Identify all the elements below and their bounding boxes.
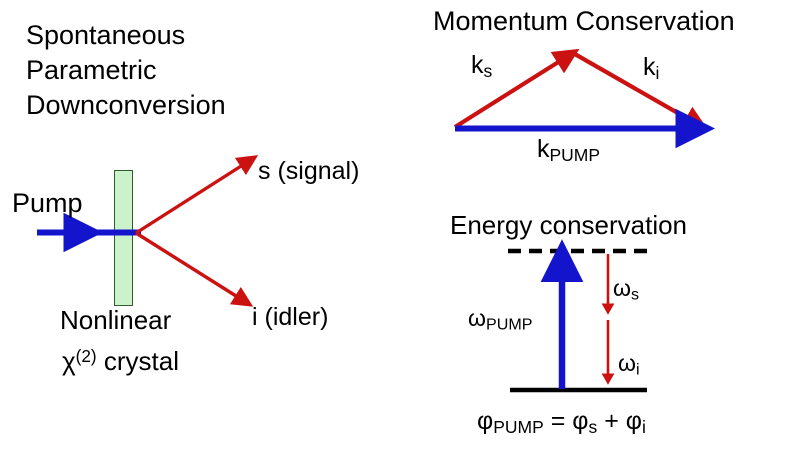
omega-pump-subscript: PUMP xyxy=(486,316,533,334)
figure-canvas: Spontaneous Parametric Downconversion xyxy=(0,0,800,471)
k-idler-symbol: k xyxy=(643,53,656,81)
figure-title-line-1: Spontaneous xyxy=(26,22,185,49)
omega-signal-subscript: s xyxy=(631,286,639,304)
figure-title-line-2: Parametric xyxy=(26,57,157,84)
plus-sign: + xyxy=(604,407,619,435)
signal-label: s (signal) xyxy=(258,159,359,184)
energy-conservation-title: Energy conservation xyxy=(450,212,687,238)
crystal-word: crystal xyxy=(97,346,179,376)
k-pump-label: kPUMP xyxy=(537,137,600,164)
omega-pump-label: ωPUMP xyxy=(468,307,532,333)
idler-beam-arrow xyxy=(136,233,244,301)
equals-sign: = xyxy=(551,407,566,435)
k-idler-label: ki xyxy=(643,55,659,82)
chi-symbol: χ xyxy=(62,346,76,376)
phi-pump-symbol: φ xyxy=(477,407,493,435)
omega-idler-label: ωi xyxy=(618,352,640,378)
nonlinear-crystal-slab xyxy=(114,170,133,306)
phi-signal-subscript: s xyxy=(589,417,598,437)
momentum-conservation-title: Momentum Conservation xyxy=(433,8,735,35)
k-signal-symbol: k xyxy=(471,51,484,79)
k-pump-symbol: k xyxy=(537,135,550,163)
omega-idler-subscript: i xyxy=(636,361,640,379)
phi-signal-symbol: φ xyxy=(572,407,588,435)
k-idler-vector xyxy=(573,53,697,124)
k-signal-label: ks xyxy=(471,53,492,80)
omega-idler-symbol: ω xyxy=(618,350,636,376)
signal-beam-arrow xyxy=(136,161,249,233)
nonlinear-crystal-label-line-1: Nonlinear xyxy=(60,307,171,333)
nonlinear-crystal-label-line-2: χ(2) crystal xyxy=(62,348,179,374)
idler-label: i (idler) xyxy=(252,305,328,330)
phase-matching-formula: φPUMP = φs + φi xyxy=(477,409,646,436)
omega-pump-symbol: ω xyxy=(468,305,486,331)
pump-label: Pump xyxy=(12,190,83,217)
k-pump-subscript: PUMP xyxy=(550,145,601,165)
omega-signal-label: ωs xyxy=(613,277,639,303)
figure-title-line-3: Downconversion xyxy=(26,92,226,119)
phi-idler-symbol: φ xyxy=(626,407,642,435)
k-signal-subscript: s xyxy=(484,61,493,81)
phi-pump-subscript: PUMP xyxy=(493,417,544,437)
k-idler-subscript: i xyxy=(656,63,660,83)
chi-order-superscript: (2) xyxy=(76,346,97,366)
omega-signal-symbol: ω xyxy=(613,275,631,301)
phi-idler-subscript: i xyxy=(642,417,646,437)
